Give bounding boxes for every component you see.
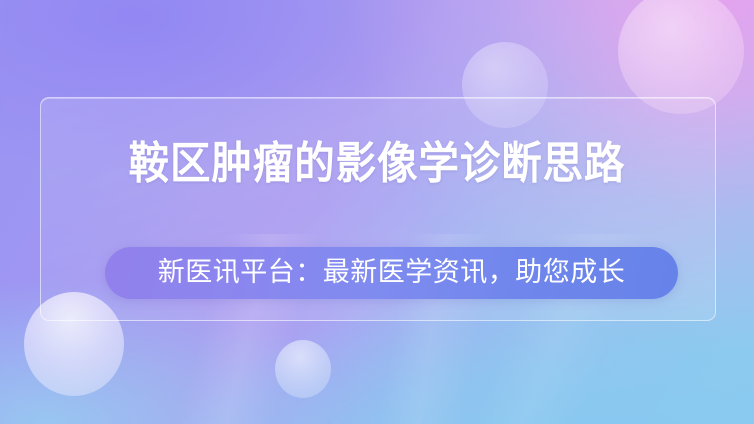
poster-content: 鞍区肿瘤的影像学诊断思路 新医讯平台：最新医学资讯，助您成长: [0, 0, 754, 424]
subtitle-pill: 新医讯平台：最新医学资讯，助您成长: [105, 247, 678, 299]
poster-canvas: 鞍区肿瘤的影像学诊断思路 新医讯平台：最新医学资讯，助您成长: [0, 0, 754, 424]
poster-title: 鞍区肿瘤的影像学诊断思路: [30, 138, 724, 190]
subtitle-text: 新医讯平台：最新医学资讯，助您成长: [158, 256, 626, 290]
